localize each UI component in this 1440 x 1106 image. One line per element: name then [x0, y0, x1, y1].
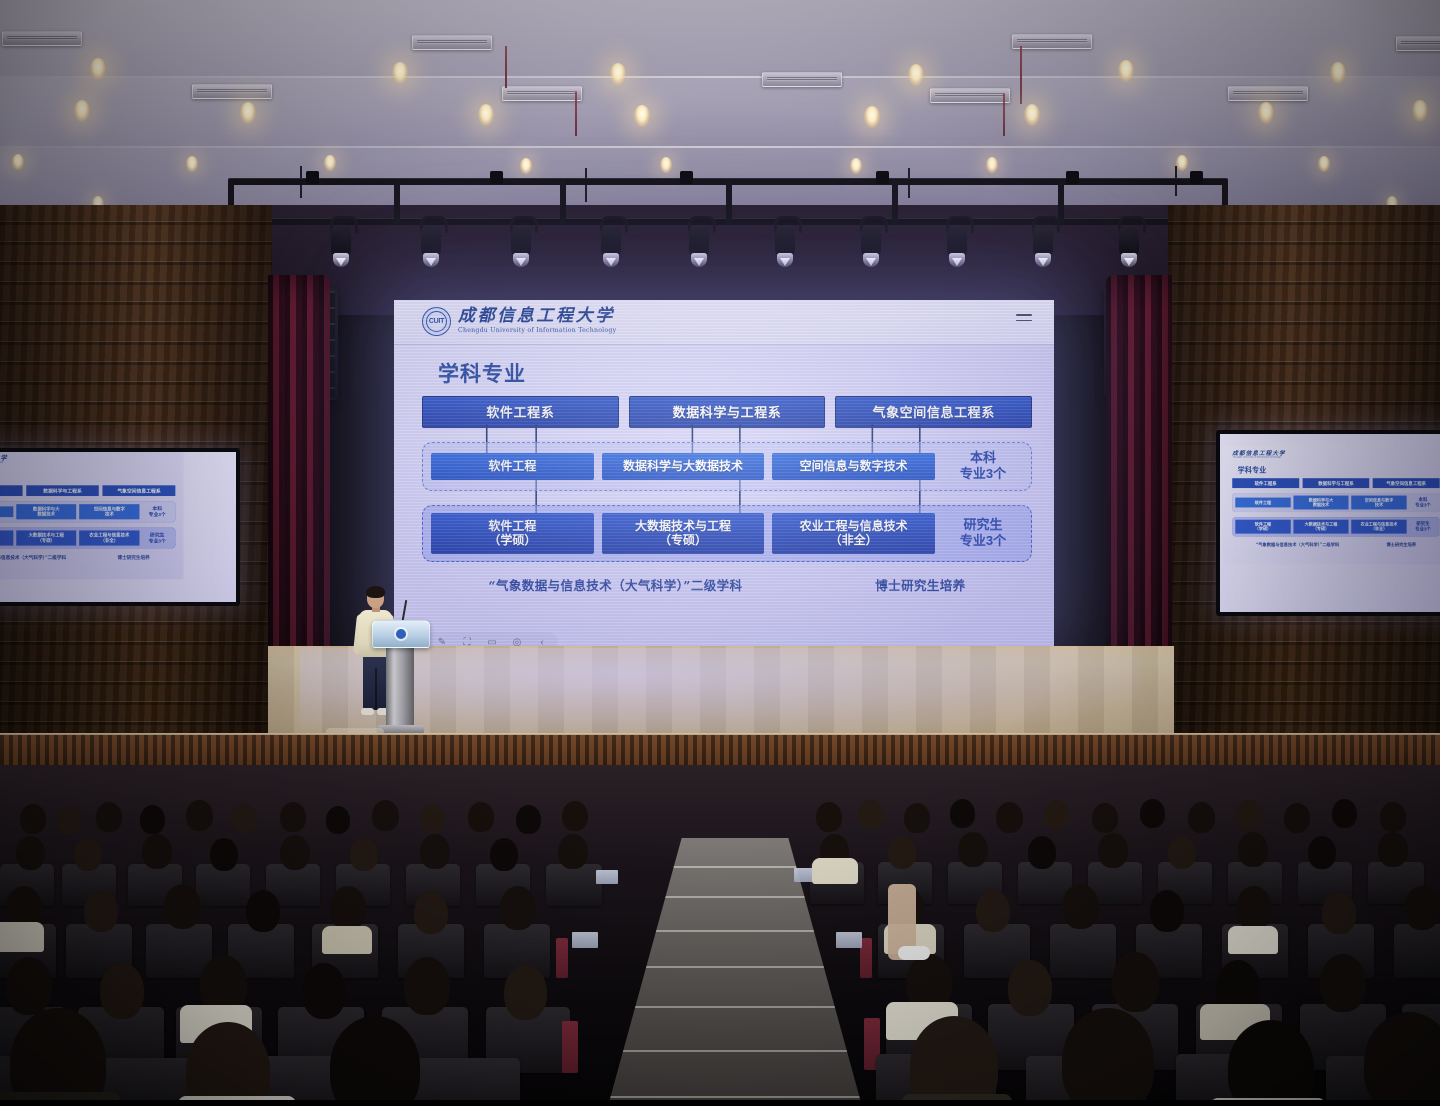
graduate-tier: 软件工程 （学硕） 大数据技术与工程 （专硕） 农业工程与信息技术 （非全） 研… [422, 505, 1032, 562]
slide-header: CUIT 成都信息工程大学 Chengdu University of Info… [394, 300, 1054, 345]
graduate-major: 大数据技术与工程 （专硕） [602, 513, 765, 554]
ceiling-vent [1012, 34, 1092, 49]
graduate-tag-line1: 研究生 [943, 517, 1023, 533]
university-logo: CUIT 成都信息工程大学 Chengdu University of Info… [422, 307, 616, 336]
undergrad-tag-line2: 专业3个 [943, 466, 1023, 482]
graduate-tag-line2: 专业3个 [943, 533, 1023, 549]
graduate-count-tag: 研究生 专业3个 [943, 517, 1023, 550]
graduate-major-line1: 农业工程与信息技术 [775, 519, 932, 534]
ceiling-vent [192, 84, 272, 99]
graduate-major: 软件工程 （学硕） [431, 513, 594, 554]
lectern-logo-icon [396, 629, 406, 639]
department-box: 软件工程系 [422, 396, 619, 428]
seal-text: CUIT [423, 308, 450, 335]
footnote-doctoral: 博士研究生培养 [875, 575, 965, 594]
undergrad-major: 软件工程 [431, 453, 594, 480]
lectern [372, 620, 428, 738]
department-box: 气象空间信息工程系 [835, 396, 1032, 428]
undergraduate-tier: 软件工程 数据科学与大数据技术 空间信息与数字技术 本科 专业3个 [422, 442, 1032, 491]
slide-footnotes: “气象数据与信息技术（大气科学）”二级学科 博士研究生培养 [422, 575, 1032, 594]
ceiling-vent [412, 35, 492, 50]
auditorium-scene: 成都信息工程大学 Chengdu University of Informati… [0, 0, 1440, 1106]
slide-title: 学科专业 [438, 358, 526, 388]
graduate-major-line2: （专硕） [605, 533, 762, 548]
graduate-major-line2: （非全） [775, 533, 932, 548]
lighting-truss [228, 178, 1228, 228]
department-row: 软件工程系 数据科学与工程系 气象空间信息工程系 [422, 396, 1032, 428]
main-presentation-screen[interactable]: CUIT 成都信息工程大学 Chengdu University of Info… [394, 300, 1054, 650]
undergrad-tag-line1: 本科 [943, 450, 1023, 466]
ceiling-vent [930, 88, 1010, 103]
left-confidence-monitor: 成都信息工程大学 Chengdu University of Informati… [0, 448, 240, 606]
ceiling-vent [1396, 36, 1440, 51]
bottom-letterbox [0, 1100, 1440, 1106]
graduate-major-line1: 软件工程 [434, 519, 591, 534]
right-confidence-monitor: 成都信息工程大学 Chengdu University of Informati… [1216, 430, 1440, 616]
graduate-major-line2: （学硕） [434, 533, 591, 548]
undergrad-major: 空间信息与数字技术 [772, 453, 935, 480]
university-seal-icon: CUIT [422, 307, 451, 336]
ceiling-vent [762, 72, 842, 87]
ceiling-vent [1228, 86, 1308, 101]
graduate-major: 农业工程与信息技术 （非全） [772, 513, 935, 554]
discipline-chart: 软件工程系 数据科学与工程系 气象空间信息工程系 [422, 396, 1032, 594]
university-name-cn: 成都信息工程大学 [458, 308, 616, 325]
ceiling-vent [502, 86, 582, 101]
undergrad-count-tag: 本科 专业3个 [943, 450, 1023, 483]
audience-shoe [898, 946, 930, 960]
footnote-secondary-discipline: “气象数据与信息技术（大气科学）”二级学科 [488, 575, 742, 594]
undergrad-major: 数据科学与大数据技术 [602, 453, 765, 480]
hamburger-icon[interactable] [1016, 314, 1032, 325]
department-box: 数据科学与工程系 [629, 396, 826, 428]
graduate-major-line1: 大数据技术与工程 [605, 519, 762, 534]
ceiling-vent [2, 31, 82, 46]
university-name-en: Chengdu University of Information Techno… [458, 328, 616, 334]
